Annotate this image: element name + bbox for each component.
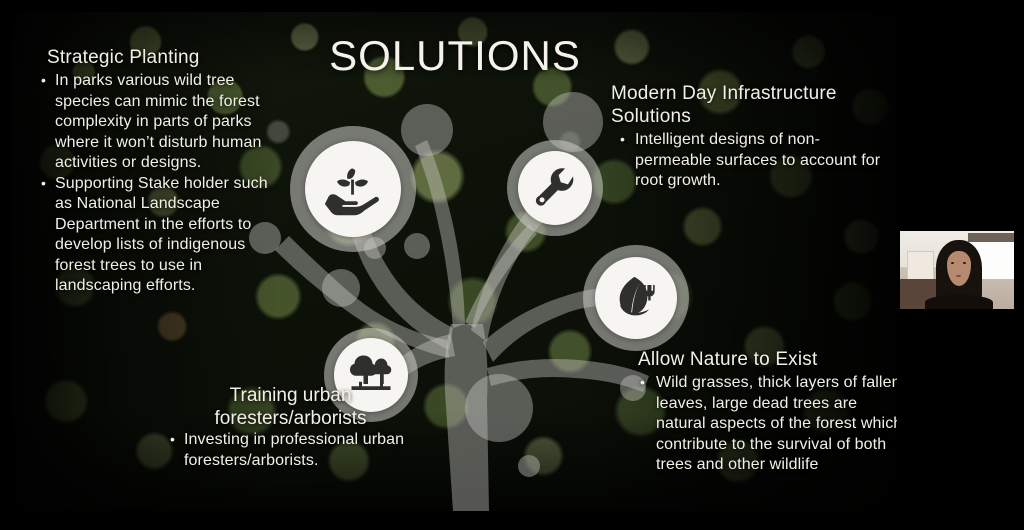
participant-video-tile[interactable]: [900, 231, 1014, 309]
text-block-allow-nature: Allow Nature to Exist Wild grasses, thic…: [628, 348, 897, 476]
bullet-item: Supporting Stake holder such as National…: [38, 174, 278, 297]
bullet-list: Investing in professional urban forester…: [153, 430, 418, 471]
block-heading: Training urban foresters/arborists: [153, 384, 418, 430]
icon-node-strategic-planting[interactable]: [290, 126, 416, 252]
icon-node-allow-nature[interactable]: [583, 245, 689, 351]
participant-shoulders: [925, 295, 993, 309]
wrench-icon: [532, 165, 578, 211]
icon-disc: [518, 151, 592, 225]
block-heading: Strategic Planting: [38, 46, 278, 69]
icon-disc: [305, 141, 401, 237]
icon-node-infrastructure[interactable]: [507, 140, 603, 236]
block-heading: Modern Day Infrastructure Solutions: [611, 82, 896, 128]
bullet-item: Intelligent designs of non-permeable sur…: [611, 130, 896, 192]
participant-mouth: [956, 275, 961, 277]
bullet-item: Investing in professional urban forester…: [153, 430, 418, 471]
text-block-strategic-planting: Strategic Planting In parks various wild…: [38, 46, 278, 297]
bullet-item: In parks various wild tree species can m…: [38, 71, 278, 174]
screen-share-view: SOLUTIONS: [0, 0, 1024, 530]
presentation-slide: SOLUTIONS: [13, 12, 897, 511]
bullet-item: Wild grasses, thick layers of fallen lea…: [628, 373, 897, 476]
text-block-modern-infrastructure: Modern Day Infrastructure Solutions Inte…: [611, 82, 896, 192]
icon-disc: [595, 257, 677, 339]
bullet-list: Intelligent designs of non-permeable sur…: [611, 130, 896, 192]
window-frame: [968, 233, 1014, 242]
leaf-power-plug-icon: [610, 272, 662, 324]
hand-holding-plant-icon: [323, 159, 383, 219]
block-heading: Allow Nature to Exist: [628, 348, 897, 371]
bullet-list: In parks various wild tree species can m…: [38, 71, 278, 297]
participant-face: [947, 251, 971, 285]
bullet-list: Wild grasses, thick layers of fallen lea…: [628, 373, 897, 476]
text-block-training-foresters: Training urban foresters/arborists Inves…: [153, 384, 418, 471]
